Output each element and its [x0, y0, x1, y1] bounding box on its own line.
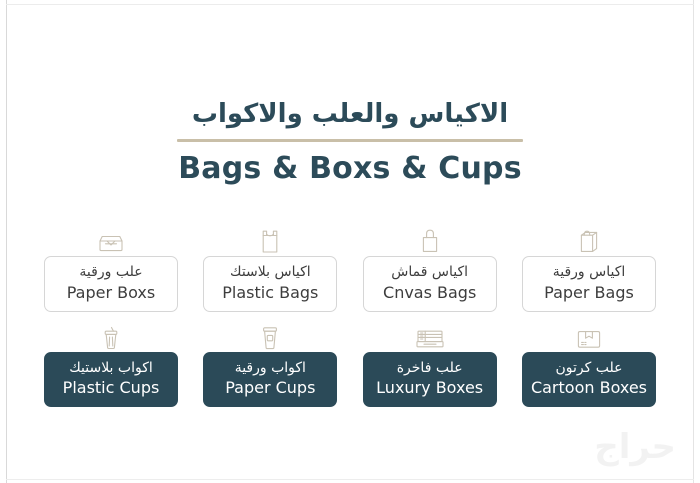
- category-column-3: اكياس قماش Cnvas Bags علب فاخرة: [363, 224, 497, 407]
- page-title-english: Bags & Boxs & Cups: [0, 151, 700, 186]
- card-label-arabic: علب ورقية: [49, 264, 173, 282]
- page-frame-bottom-edge: [6, 479, 694, 480]
- category-card-luxury-boxes[interactable]: علب فاخرة Luxury Boxes: [363, 352, 497, 408]
- category-card-plastic-cups[interactable]: اكواب بلاستيك Plastic Cups: [44, 352, 178, 408]
- card-label-arabic: علب كرتون: [527, 360, 651, 378]
- card-label-english: Cartoon Boxes: [527, 378, 651, 397]
- card-label-english: Luxury Boxes: [368, 378, 492, 397]
- card-label-arabic: اكواب ورقية: [208, 360, 332, 378]
- card-label-english: Plastic Bags: [208, 283, 332, 302]
- page-header: الاكياس والعلب والاكواب Bags & Boxs & Cu…: [0, 100, 700, 186]
- paper-bag-icon: [578, 224, 600, 254]
- card-label-arabic: اكياس ورقية: [527, 264, 651, 282]
- title-divider: [177, 139, 523, 142]
- category-card-cartoon-boxes[interactable]: علب كرتون Cartoon Boxes: [522, 352, 656, 408]
- card-label-arabic: اكياس بلاستك: [208, 264, 332, 282]
- luxury-gift-box-icon: [416, 320, 444, 350]
- page-title-arabic: الاكياس والعلب والاكواب: [0, 100, 700, 130]
- page-frame-left-edge: [6, 0, 7, 483]
- plastic-bag-icon: [260, 224, 280, 254]
- card-label-english: Paper Boxs: [49, 283, 173, 302]
- card-label-english: Paper Bags: [527, 283, 651, 302]
- open-paper-box-icon: [98, 224, 124, 254]
- carton-box-icon: [576, 320, 602, 350]
- plastic-cup-icon: [101, 320, 121, 350]
- page-frame-top-edge: [6, 4, 694, 5]
- paper-cup-icon: [260, 320, 280, 350]
- category-column-1: علب ورقية Paper Boxs اكواب بلاستيك Plast…: [44, 224, 178, 407]
- category-card-paper-cups[interactable]: اكواب ورقية Paper Cups: [203, 352, 337, 408]
- page-frame-right-edge: [693, 0, 694, 483]
- category-card-paper-boxs[interactable]: علب ورقية Paper Boxs: [44, 256, 178, 312]
- card-label-english: Cnvas Bags: [368, 283, 492, 302]
- canvas-bag-icon: [420, 224, 440, 254]
- card-label-english: Paper Cups: [208, 378, 332, 397]
- card-label-arabic: علب فاخرة: [368, 360, 492, 378]
- card-label-arabic: اكياس قماش: [368, 264, 492, 282]
- category-card-cnvas-bags[interactable]: اكياس قماش Cnvas Bags: [363, 256, 497, 312]
- card-label-english: Plastic Cups: [49, 378, 173, 397]
- category-card-paper-bags[interactable]: اكياس ورقية Paper Bags: [522, 256, 656, 312]
- slide-canvas: الاكياس والعلب والاكواب Bags & Boxs & Cu…: [0, 0, 700, 483]
- card-label-arabic: اكواب بلاستيك: [49, 360, 173, 378]
- category-card-plastic-bags[interactable]: اكياس بلاستك Plastic Bags: [203, 256, 337, 312]
- category-column-4: اكياس ورقية Paper Bags علب كرتون Cartoon…: [522, 224, 656, 407]
- category-grid: علب ورقية Paper Boxs اكواب بلاستيك Plast…: [44, 224, 656, 407]
- category-column-2: اكياس بلاستك Plastic Bags اكواب ورقية Pa…: [203, 224, 337, 407]
- watermark: حراج: [594, 427, 676, 467]
